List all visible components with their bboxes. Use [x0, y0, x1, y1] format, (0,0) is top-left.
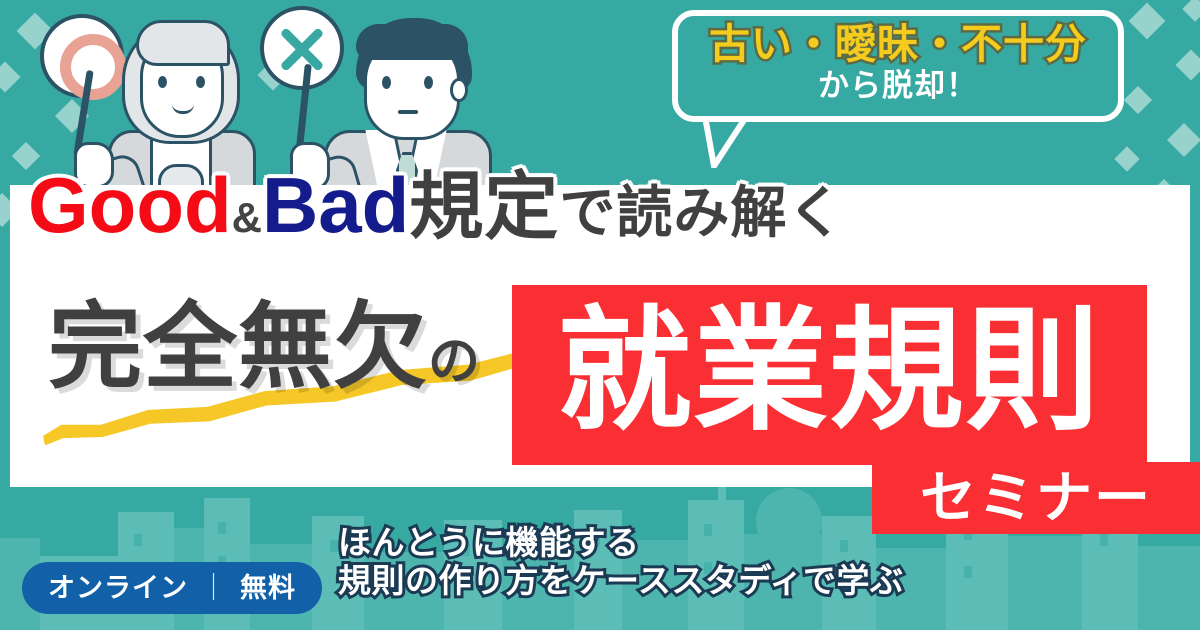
status-badge-online-free: オンライン ｜ 無料 — [22, 562, 322, 614]
city-window — [1100, 534, 1108, 546]
city-building — [1008, 536, 1082, 630]
woman-eye-right — [196, 76, 205, 88]
headline-ampersand: & — [232, 194, 262, 241]
headline-no-particle: の — [428, 333, 480, 391]
headline-kanzenmuketsu: 完全無欠 — [48, 294, 428, 399]
red-title-block: 就業規則 — [512, 285, 1147, 465]
cross-ng-sign-icon — [260, 6, 344, 90]
headline-good: Good — [28, 161, 232, 249]
headline-row-1: Good&Bad規定で読み解く — [28, 166, 844, 244]
decor-diamond — [1129, 3, 1166, 40]
headline-row-2: 完全無欠の — [48, 300, 480, 394]
badge-free-label: 無料 — [240, 575, 296, 602]
badge-online-label: オンライン — [48, 575, 188, 602]
decor-diamond — [1114, 146, 1139, 171]
headline-bad: Bad — [262, 161, 409, 249]
subtitle-line-2: 規則の作り方をケーススタディで学ぶ — [338, 562, 904, 600]
decor-diamond — [1182, 0, 1200, 22]
headline-kitei: 規定 — [409, 165, 559, 248]
city-window — [134, 534, 142, 546]
city-window — [964, 566, 972, 578]
man-eye-left — [382, 76, 391, 89]
red-seminar-block: セミナー — [872, 462, 1200, 534]
man-ear — [450, 78, 468, 102]
city-tower — [718, 486, 726, 508]
decor-diamond — [0, 61, 21, 92]
man-mouth — [398, 110, 418, 114]
subtitle-line-1: ほんとうに機能する — [338, 524, 904, 562]
decor-diamond — [1124, 86, 1152, 114]
man-eye-right — [424, 76, 433, 89]
circle-ok-sign-icon — [40, 14, 124, 98]
woman-eye-left — [158, 76, 167, 88]
subtitle: ほんとうに機能する 規則の作り方をケーススタディで学ぶ — [338, 524, 904, 601]
decor-diamond — [1167, 123, 1200, 157]
badge-separator: ｜ — [200, 575, 228, 602]
headline-yomitoku: で読み解く — [559, 181, 844, 244]
headline-seminar: セミナー — [920, 470, 1152, 526]
bubble-line-1: 古い・曖昧・不十分 — [678, 23, 1118, 66]
woman-bangs — [136, 20, 230, 66]
city-building — [1138, 546, 1200, 630]
speech-bubble: 古い・曖昧・不十分 から脱却！ — [672, 10, 1124, 122]
seminar-banner: 古い・曖昧・不十分 から脱却！ Good&Bad規定で読み解く 完全無欠の 就業… — [0, 0, 1200, 630]
decor-diamond — [1175, 49, 1200, 80]
man-bangs — [356, 24, 468, 60]
bubble-line-2: から脱却！ — [678, 69, 1118, 103]
city-window — [330, 540, 338, 552]
city-window — [218, 522, 226, 534]
headline-shugyokisoku: 就業規則 — [557, 305, 1101, 439]
